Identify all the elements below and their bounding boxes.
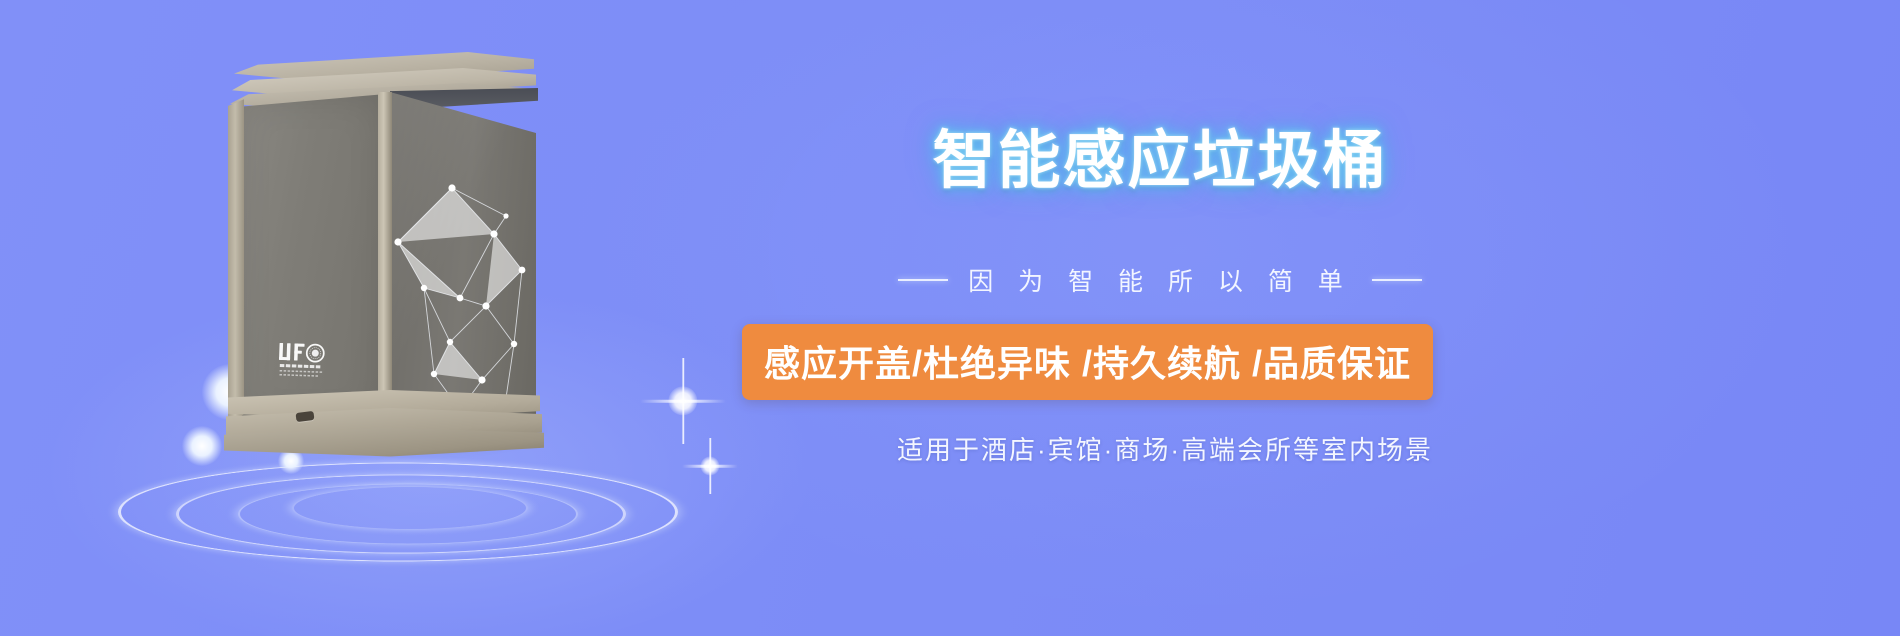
feature-badge: 感应开盖/杜绝异味 /持久续航 /品质保证 [742,324,1433,400]
banner-footnote: 适用于酒店·宾馆·商场·高端会所等室内场景 [750,430,1580,467]
promo-banner: 智能感应垃圾桶 因 为 智 能 所 以 简 单 感应开盖/杜绝异味 /持久续航 … [0,0,1900,636]
ufo-brand-logo-icon [277,339,342,383]
glow-dot-2 [182,426,222,466]
bin-rail-left [228,96,244,424]
bin-panel-right [390,92,536,434]
subline-rule-left [898,279,948,281]
banner-copy: 智能感应垃圾桶 因 为 智 能 所 以 简 单 感应开盖/杜绝异味 /持久续航 … [880,0,1840,636]
product-illustration [60,0,780,636]
subline-rule-right [1372,279,1422,281]
banner-headline: 智能感应垃圾桶 [880,128,1440,194]
trash-bin-product [228,52,538,452]
sparkle-star-large-icon [640,358,726,444]
banner-subline: 因 为 智 能 所 以 简 单 [745,262,1575,298]
polygon-network-graphic [390,92,536,434]
sparkle-star-small-icon [682,438,738,494]
ripple-ring-inner [292,486,528,529]
bin-rail-corner [378,92,392,428]
subline-text: 因 为 智 能 所 以 简 单 [968,262,1352,298]
